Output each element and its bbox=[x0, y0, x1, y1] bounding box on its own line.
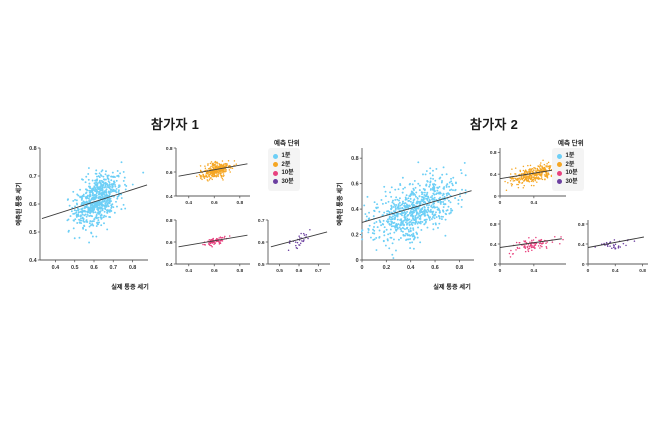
data-point bbox=[419, 241, 421, 243]
data-point bbox=[85, 196, 87, 198]
data-point bbox=[101, 209, 103, 211]
data-point bbox=[406, 198, 408, 200]
data-point bbox=[103, 182, 105, 184]
data-point bbox=[432, 183, 434, 185]
data-point bbox=[439, 186, 441, 188]
data-point bbox=[209, 168, 211, 170]
data-point bbox=[101, 175, 103, 177]
data-point bbox=[94, 190, 96, 192]
data-point bbox=[450, 201, 452, 203]
data-point bbox=[441, 201, 443, 203]
legend-swatch-icon bbox=[557, 171, 562, 176]
data-point bbox=[373, 222, 375, 224]
data-point bbox=[222, 176, 224, 178]
data-point bbox=[415, 209, 417, 211]
data-point bbox=[527, 181, 529, 183]
y-tick-label: 0.8 bbox=[166, 146, 173, 152]
data-point bbox=[393, 238, 395, 240]
data-point bbox=[420, 229, 422, 231]
data-point bbox=[221, 170, 223, 172]
legend-item-label: 10분 bbox=[282, 169, 294, 178]
data-point bbox=[537, 165, 539, 167]
data-point bbox=[200, 170, 202, 172]
data-point bbox=[85, 220, 87, 222]
data-point bbox=[199, 174, 201, 176]
data-point bbox=[546, 247, 548, 249]
data-point bbox=[373, 230, 375, 232]
data-point bbox=[426, 212, 428, 214]
data-point bbox=[528, 169, 530, 171]
data-point bbox=[390, 229, 392, 231]
data-point bbox=[442, 201, 444, 203]
data-point bbox=[93, 218, 95, 220]
scatter-plot-participant-2[interactable]: 00.20.40.60.800.20.40.60.800.400.40.800.… bbox=[330, 136, 658, 306]
data-point bbox=[441, 182, 443, 184]
data-point bbox=[543, 167, 545, 169]
legend-item-2분[interactable]: 2분 bbox=[557, 161, 578, 170]
data-point bbox=[426, 219, 428, 221]
y-tick-label: 0 bbox=[356, 258, 359, 264]
data-point bbox=[432, 211, 434, 213]
data-point bbox=[395, 224, 397, 226]
data-point bbox=[303, 233, 305, 235]
data-point bbox=[424, 207, 426, 209]
data-point bbox=[97, 223, 99, 225]
data-point bbox=[422, 196, 424, 198]
data-point bbox=[74, 209, 76, 211]
data-point bbox=[397, 219, 399, 221]
data-point bbox=[546, 246, 548, 248]
data-point bbox=[429, 199, 431, 201]
data-point bbox=[448, 186, 450, 188]
data-point bbox=[415, 187, 417, 189]
data-point bbox=[438, 215, 440, 217]
data-point bbox=[419, 185, 421, 187]
legend-swatch-icon bbox=[557, 179, 562, 184]
data-point bbox=[524, 245, 526, 247]
data-point bbox=[517, 178, 519, 180]
legend-item-label: 1분 bbox=[566, 152, 575, 161]
data-point bbox=[397, 223, 399, 225]
x-tick-label: 0.5 bbox=[276, 268, 283, 274]
data-point bbox=[104, 202, 106, 204]
data-point bbox=[214, 175, 216, 177]
data-point bbox=[383, 234, 385, 236]
data-point bbox=[196, 176, 198, 178]
x-tick-label: 0.2 bbox=[383, 265, 391, 271]
data-point bbox=[296, 247, 298, 249]
data-point bbox=[78, 209, 80, 211]
data-point bbox=[297, 242, 299, 244]
data-point bbox=[89, 187, 91, 189]
data-point bbox=[89, 220, 91, 222]
data-point bbox=[427, 215, 429, 217]
x-tick-label: 0.7 bbox=[315, 268, 322, 274]
data-point bbox=[103, 216, 105, 218]
data-point bbox=[82, 227, 84, 229]
data-point bbox=[410, 210, 412, 212]
data-point bbox=[81, 195, 83, 197]
legend-item-10분[interactable]: 10분 bbox=[557, 169, 578, 178]
data-point bbox=[387, 210, 389, 212]
data-point bbox=[401, 223, 403, 225]
data-point bbox=[448, 206, 450, 208]
data-point bbox=[422, 173, 424, 175]
data-point bbox=[428, 204, 430, 206]
data-point bbox=[534, 248, 536, 250]
data-point bbox=[99, 176, 101, 178]
data-point bbox=[105, 170, 107, 172]
data-point bbox=[434, 190, 436, 192]
y-tick-label: 0.4 bbox=[490, 242, 497, 248]
data-point bbox=[121, 161, 123, 163]
data-point bbox=[537, 169, 539, 171]
data-point bbox=[614, 239, 616, 241]
data-point bbox=[208, 243, 210, 245]
data-point bbox=[218, 165, 220, 167]
data-point bbox=[71, 210, 73, 212]
data-point bbox=[388, 201, 390, 203]
x-tick-label: 0.4 bbox=[531, 200, 538, 206]
data-point bbox=[107, 198, 109, 200]
data-point bbox=[413, 248, 415, 250]
data-point bbox=[412, 215, 414, 217]
data-point bbox=[216, 164, 218, 166]
data-point bbox=[516, 242, 518, 244]
data-point bbox=[449, 189, 451, 191]
legend-item-1분[interactable]: 1분 bbox=[273, 152, 294, 161]
y-axis-title: 예측된 통증 세기 bbox=[15, 182, 23, 226]
data-point bbox=[615, 243, 617, 245]
data-point bbox=[361, 238, 363, 240]
data-point bbox=[98, 186, 100, 188]
data-point bbox=[434, 217, 436, 219]
data-point bbox=[519, 174, 521, 176]
data-point bbox=[443, 188, 445, 190]
data-point bbox=[301, 240, 303, 242]
data-point bbox=[96, 184, 98, 186]
data-point bbox=[379, 219, 381, 221]
data-point bbox=[105, 173, 107, 175]
data-point bbox=[387, 233, 389, 235]
data-point bbox=[376, 249, 378, 251]
data-point bbox=[543, 242, 545, 244]
data-point bbox=[102, 187, 104, 189]
x-tick-label: 0.8 bbox=[456, 265, 464, 271]
data-point bbox=[423, 223, 425, 225]
data-point bbox=[545, 242, 547, 244]
data-point bbox=[373, 226, 375, 228]
data-point bbox=[409, 205, 411, 207]
data-point bbox=[415, 231, 417, 233]
data-point bbox=[86, 216, 88, 218]
data-point bbox=[455, 189, 457, 191]
data-point bbox=[229, 165, 231, 167]
x-axis-title: 실제 통증 세기 bbox=[111, 283, 149, 291]
axes-main: 0.40.50.60.70.80.40.50.60.70.8 bbox=[29, 146, 148, 271]
data-point bbox=[428, 186, 430, 188]
data-point bbox=[216, 172, 218, 174]
data-point bbox=[91, 191, 93, 193]
data-point bbox=[518, 187, 520, 189]
data-point bbox=[142, 172, 144, 174]
data-point bbox=[544, 164, 546, 166]
data-point bbox=[450, 178, 452, 180]
data-point bbox=[101, 185, 103, 187]
data-point bbox=[535, 237, 537, 239]
data-point bbox=[90, 232, 92, 234]
data-point bbox=[218, 237, 220, 239]
data-point bbox=[85, 181, 87, 183]
data-point bbox=[529, 181, 531, 183]
data-point bbox=[417, 201, 419, 203]
data-point bbox=[412, 227, 414, 229]
legend-participant-1[interactable]: 1분2분10분30분 bbox=[268, 148, 300, 191]
point-cloud-30분 bbox=[594, 239, 635, 250]
legend-item-30분[interactable]: 30분 bbox=[557, 178, 578, 187]
data-point bbox=[435, 168, 437, 170]
data-point bbox=[82, 217, 84, 219]
data-point bbox=[222, 160, 224, 162]
data-point bbox=[84, 206, 86, 208]
data-point bbox=[368, 212, 370, 214]
data-point bbox=[395, 215, 397, 217]
data-point bbox=[438, 223, 440, 225]
data-point bbox=[411, 241, 413, 243]
data-point bbox=[523, 180, 525, 182]
y-tick-label: 0.5 bbox=[29, 230, 37, 236]
data-point bbox=[383, 220, 385, 222]
data-point bbox=[300, 243, 302, 245]
x-tick-label: 0.4 bbox=[531, 268, 538, 274]
data-point bbox=[542, 159, 544, 161]
data-point bbox=[525, 251, 527, 253]
data-point bbox=[92, 236, 94, 238]
data-point bbox=[419, 195, 421, 197]
legend-participant-2[interactable]: 1분2분10분30분 bbox=[552, 148, 584, 191]
data-point bbox=[444, 196, 446, 198]
data-point bbox=[451, 183, 453, 185]
data-point bbox=[536, 181, 538, 183]
data-point bbox=[530, 165, 532, 167]
data-point bbox=[542, 179, 544, 181]
data-point bbox=[410, 230, 412, 232]
data-point bbox=[99, 208, 101, 210]
data-point bbox=[205, 174, 207, 176]
data-point bbox=[425, 184, 427, 186]
point-cloud-10분 bbox=[202, 235, 230, 247]
regression-line bbox=[179, 235, 248, 247]
data-point bbox=[432, 178, 434, 180]
data-point bbox=[101, 203, 103, 205]
x-tick-label: 0.4 bbox=[185, 268, 192, 274]
data-point bbox=[95, 217, 97, 219]
data-point bbox=[125, 189, 127, 191]
data-point bbox=[73, 219, 75, 221]
data-point bbox=[434, 199, 436, 201]
data-point bbox=[101, 214, 103, 216]
data-point bbox=[73, 227, 75, 229]
data-point bbox=[88, 210, 90, 212]
data-point bbox=[427, 209, 429, 211]
data-point bbox=[549, 165, 551, 167]
data-point bbox=[390, 223, 392, 225]
data-point bbox=[409, 247, 411, 249]
data-point bbox=[391, 186, 393, 188]
data-point bbox=[379, 221, 381, 223]
data-point bbox=[406, 194, 408, 196]
data-point bbox=[391, 254, 393, 256]
data-point bbox=[363, 204, 365, 206]
data-point bbox=[370, 237, 372, 239]
data-point bbox=[523, 185, 525, 187]
data-point bbox=[406, 223, 408, 225]
data-point bbox=[528, 248, 530, 250]
y-tick-label: 0.8 bbox=[166, 218, 173, 224]
data-point bbox=[83, 203, 85, 205]
data-point bbox=[98, 193, 100, 195]
data-point bbox=[434, 184, 436, 186]
data-point bbox=[443, 206, 445, 208]
legend-item-10분[interactable]: 10분 bbox=[273, 169, 294, 178]
data-point bbox=[527, 177, 529, 179]
data-point bbox=[400, 213, 402, 215]
data-point bbox=[419, 189, 421, 191]
data-point bbox=[361, 230, 363, 232]
legend-item-2분[interactable]: 2분 bbox=[273, 161, 294, 170]
data-point bbox=[464, 162, 466, 164]
point-cloud-2분 bbox=[196, 160, 237, 182]
data-point bbox=[372, 239, 374, 241]
data-point bbox=[390, 237, 392, 239]
data-point bbox=[393, 210, 395, 212]
data-point bbox=[210, 166, 212, 168]
data-point bbox=[107, 184, 109, 186]
data-point bbox=[443, 166, 445, 168]
legend-item-30분[interactable]: 30분 bbox=[273, 178, 294, 187]
data-point bbox=[389, 191, 391, 193]
data-point bbox=[112, 176, 114, 178]
data-point bbox=[82, 214, 84, 216]
data-point bbox=[108, 198, 110, 200]
data-point bbox=[83, 220, 85, 222]
data-point bbox=[511, 185, 513, 187]
data-point bbox=[403, 224, 405, 226]
data-point bbox=[531, 250, 533, 252]
data-point bbox=[432, 223, 434, 225]
data-point bbox=[200, 165, 202, 167]
data-point bbox=[405, 221, 407, 223]
data-point bbox=[219, 163, 221, 165]
data-point bbox=[219, 242, 221, 244]
data-point bbox=[105, 215, 107, 217]
data-point bbox=[72, 200, 74, 202]
data-point bbox=[204, 176, 206, 178]
data-point bbox=[395, 204, 397, 206]
data-point bbox=[540, 178, 542, 180]
data-point bbox=[99, 211, 101, 213]
data-point bbox=[536, 175, 538, 177]
legend-item-1분[interactable]: 1분 bbox=[557, 152, 578, 161]
data-point bbox=[379, 230, 381, 232]
data-point bbox=[386, 229, 388, 231]
data-point bbox=[409, 195, 411, 197]
data-point bbox=[446, 185, 448, 187]
data-point bbox=[399, 197, 401, 199]
x-tick-label: 0.8 bbox=[639, 268, 646, 274]
data-point bbox=[560, 236, 562, 238]
data-point bbox=[609, 245, 611, 247]
data-point bbox=[531, 175, 533, 177]
data-point bbox=[531, 176, 533, 178]
data-point bbox=[519, 242, 521, 244]
data-point bbox=[395, 206, 397, 208]
data-point bbox=[90, 206, 92, 208]
data-point bbox=[95, 236, 97, 238]
data-point bbox=[465, 174, 467, 176]
data-point bbox=[409, 242, 411, 244]
data-point bbox=[80, 214, 82, 216]
data-point bbox=[530, 170, 532, 172]
data-point bbox=[89, 222, 91, 224]
data-point bbox=[510, 250, 512, 252]
data-point bbox=[307, 238, 309, 240]
data-point bbox=[525, 177, 527, 179]
data-point bbox=[609, 241, 611, 243]
x-tick-label: 0.6 bbox=[211, 200, 218, 206]
data-point bbox=[536, 177, 538, 179]
data-point bbox=[95, 202, 97, 204]
data-point bbox=[102, 176, 104, 178]
data-point bbox=[541, 166, 543, 168]
data-point bbox=[461, 172, 463, 174]
x-tick-label: 0 bbox=[499, 268, 502, 274]
y-tick-label: 0 bbox=[494, 194, 497, 200]
data-point bbox=[309, 229, 311, 231]
data-point bbox=[204, 244, 206, 246]
data-point bbox=[548, 173, 550, 175]
data-point bbox=[393, 222, 395, 224]
data-point bbox=[377, 226, 379, 228]
plot-area-participant-2: 00.20.40.60.800.20.40.60.800.400.40.800.… bbox=[330, 136, 658, 306]
data-point bbox=[108, 202, 110, 204]
data-point bbox=[98, 188, 100, 190]
data-point bbox=[384, 226, 386, 228]
data-point bbox=[515, 249, 517, 251]
data-point bbox=[410, 201, 412, 203]
data-point bbox=[451, 210, 453, 212]
data-point bbox=[527, 247, 529, 249]
data-point bbox=[524, 172, 526, 174]
y-tick-label: 0.8 bbox=[490, 222, 497, 228]
data-point bbox=[396, 199, 398, 201]
data-point bbox=[369, 225, 371, 227]
data-point bbox=[414, 205, 416, 207]
data-point bbox=[114, 176, 116, 178]
data-point bbox=[439, 193, 441, 195]
data-point bbox=[402, 231, 404, 233]
data-point bbox=[531, 181, 533, 183]
x-tick-label: 0.8 bbox=[236, 200, 243, 206]
data-point bbox=[447, 192, 449, 194]
data-point bbox=[200, 175, 202, 177]
data-point bbox=[88, 190, 90, 192]
data-point bbox=[526, 180, 528, 182]
data-point bbox=[74, 213, 76, 215]
data-point bbox=[413, 189, 415, 191]
data-point bbox=[202, 244, 204, 246]
data-point bbox=[426, 180, 428, 182]
